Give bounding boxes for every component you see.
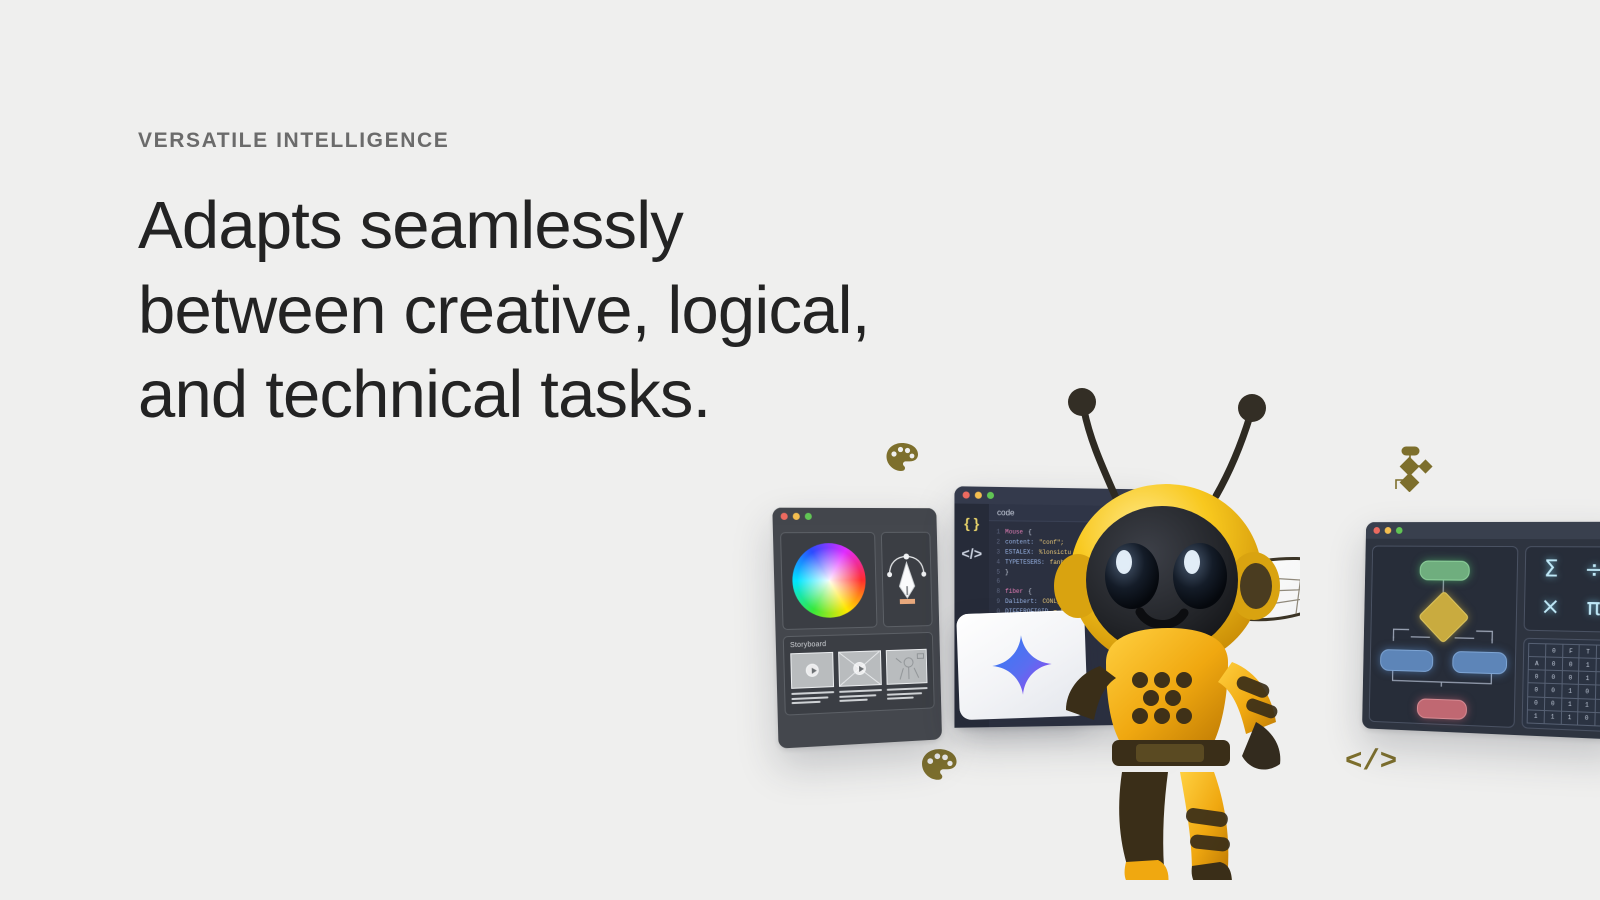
close-icon[interactable]: [963, 491, 970, 498]
line-number: 8: [993, 587, 1000, 597]
table-header-cell: F: [1562, 644, 1579, 658]
table-cell: 1: [1579, 658, 1596, 672]
table-cell: 0: [1562, 671, 1579, 685]
table-cell: 0: [1528, 670, 1545, 684]
play-icon[interactable]: [806, 663, 819, 677]
flow-node-branch-right[interactable]: [1452, 651, 1507, 675]
line-number: 6: [993, 577, 1000, 587]
sketch-icon: [886, 650, 926, 684]
window-titlebar: [1366, 522, 1600, 540]
minimize-icon[interactable]: [1385, 527, 1392, 534]
maximize-icon[interactable]: [1396, 527, 1403, 534]
line-number: 9: [993, 597, 1000, 607]
antenna-knob: [1068, 388, 1096, 416]
flowchart-icon: [1385, 446, 1433, 497]
storyboard-frames: [790, 649, 928, 707]
maximize-icon[interactable]: [987, 492, 994, 499]
table-cell: 0: [1596, 659, 1600, 673]
table-cell: 0: [1528, 683, 1545, 697]
truth-table-panel[interactable]: 0FTTA001000010001000011111101: [1522, 638, 1600, 733]
sigma-icon: Σ: [1544, 558, 1559, 581]
frame-thumbnail: [838, 650, 881, 687]
color-wheel-panel[interactable]: [780, 532, 877, 630]
design-tools-row: [780, 532, 933, 630]
minimize-icon[interactable]: [975, 492, 982, 499]
leg-left: [1119, 772, 1168, 874]
palette-icon: [885, 442, 919, 478]
divide-icon: ÷: [1584, 559, 1600, 583]
table-cell: 1: [1561, 711, 1578, 725]
pen-tool-panel[interactable]: [881, 532, 933, 628]
table-cell: 1: [1527, 710, 1544, 724]
frame-thumbnail: [790, 652, 834, 689]
eye-left: [1105, 543, 1159, 609]
table-cell: 0: [1545, 657, 1562, 671]
design-window-body: Storyboard: [773, 525, 942, 723]
flowchart-panel[interactable]: [1369, 546, 1519, 728]
table-cell: 0: [1527, 696, 1544, 710]
table-cell: 1: [1561, 698, 1578, 712]
table-cell: 1: [1579, 671, 1596, 685]
eye-highlight: [1116, 550, 1132, 574]
pen-tool-icon: [884, 550, 929, 608]
flow-node-branch-left[interactable]: [1380, 649, 1433, 672]
frame-caption-lines: [791, 691, 834, 704]
truth-table: 0FTTA001000010001000011111101: [1527, 643, 1600, 727]
window-titlebar: [772, 508, 936, 525]
table-cell: 0: [1596, 685, 1600, 699]
frame-thumbnail: [885, 649, 927, 685]
palette-icon: [920, 748, 958, 787]
pi-icon: π: [1586, 596, 1600, 620]
headline-line-2: between creative, logical,: [138, 269, 978, 353]
table-cell: 0: [1544, 684, 1561, 698]
hero-section: VERSATILE INTELLIGENCE Adapts seamlessly…: [0, 0, 1600, 900]
math-symbols-panel[interactable]: Σ ÷ × π: [1524, 546, 1600, 633]
table-header-cell: T: [1579, 645, 1596, 659]
line-number: 3: [993, 547, 1000, 557]
table-cell: 0: [1596, 672, 1600, 686]
table-cell: 0: [1578, 712, 1595, 726]
table-cell: 1: [1561, 684, 1578, 698]
code-glyph-icon: </>: [1345, 745, 1397, 778]
table-cell: 1: [1595, 712, 1600, 726]
logic-window-body: Σ ÷ × π 0FTTA001000010001000011111101: [1362, 539, 1600, 740]
antenna-knob: [1238, 394, 1266, 422]
table-header-cell: T: [1596, 645, 1600, 659]
hero-illustration: </>: [740, 380, 1600, 900]
eyebrow-label: VERSATILE INTELLIGENCE: [138, 128, 978, 153]
headline-line-1: Adapts seamlessly: [138, 184, 978, 268]
table-row: 11101: [1527, 710, 1600, 727]
table-header-cell: [1529, 643, 1546, 657]
code-glyph-icon[interactable]: </>: [961, 546, 982, 560]
table-cell: 0: [1562, 658, 1579, 672]
table-cell: 1: [1595, 699, 1600, 713]
storyboard-frame[interactable]: [790, 652, 835, 707]
logic-right-column: Σ ÷ × π 0FTTA001000010001000011111101: [1522, 546, 1600, 732]
eye-right: [1173, 543, 1227, 609]
table-header-cell: 0: [1545, 644, 1562, 658]
table-cell: 1: [1578, 698, 1595, 712]
close-icon[interactable]: [1373, 527, 1380, 534]
flow-node-end[interactable]: [1417, 698, 1467, 720]
table-cell: 0: [1578, 685, 1595, 699]
line-number: 5: [993, 567, 1000, 577]
frame-caption-lines: [839, 689, 881, 702]
storyboard-title: Storyboard: [790, 638, 927, 649]
tab-code[interactable]: code: [997, 508, 1014, 517]
minimize-icon[interactable]: [793, 513, 800, 520]
foot-left: [1125, 860, 1169, 880]
arm-right: [1218, 662, 1276, 734]
braces-icon[interactable]: { }: [964, 516, 979, 530]
storyboard-panel: Storyboard: [783, 632, 935, 715]
design-app-window[interactable]: Storyboard: [772, 508, 942, 749]
color-wheel-icon[interactable]: [791, 543, 866, 619]
line-number: 4: [993, 557, 1000, 567]
table-cell: 0: [1544, 697, 1561, 711]
line-number: 1: [993, 527, 1000, 537]
storyboard-frame[interactable]: [885, 649, 927, 702]
table-cell: A: [1528, 657, 1545, 671]
storyboard-frame[interactable]: [838, 650, 882, 704]
table-cell: 1: [1544, 710, 1561, 724]
close-icon[interactable]: [781, 513, 788, 520]
multiply-icon: ×: [1540, 596, 1560, 620]
maximize-icon[interactable]: [805, 513, 812, 520]
flow-node-start[interactable]: [1420, 560, 1470, 580]
line-number: 2: [993, 537, 1000, 547]
eye-highlight: [1184, 550, 1200, 574]
logic-app-window[interactable]: Σ ÷ × π 0FTTA001000010001000011111101: [1362, 522, 1600, 740]
table-cell: 0: [1545, 670, 1562, 684]
bee-robot-mascot: [1040, 380, 1300, 880]
frame-caption-lines: [886, 687, 927, 700]
